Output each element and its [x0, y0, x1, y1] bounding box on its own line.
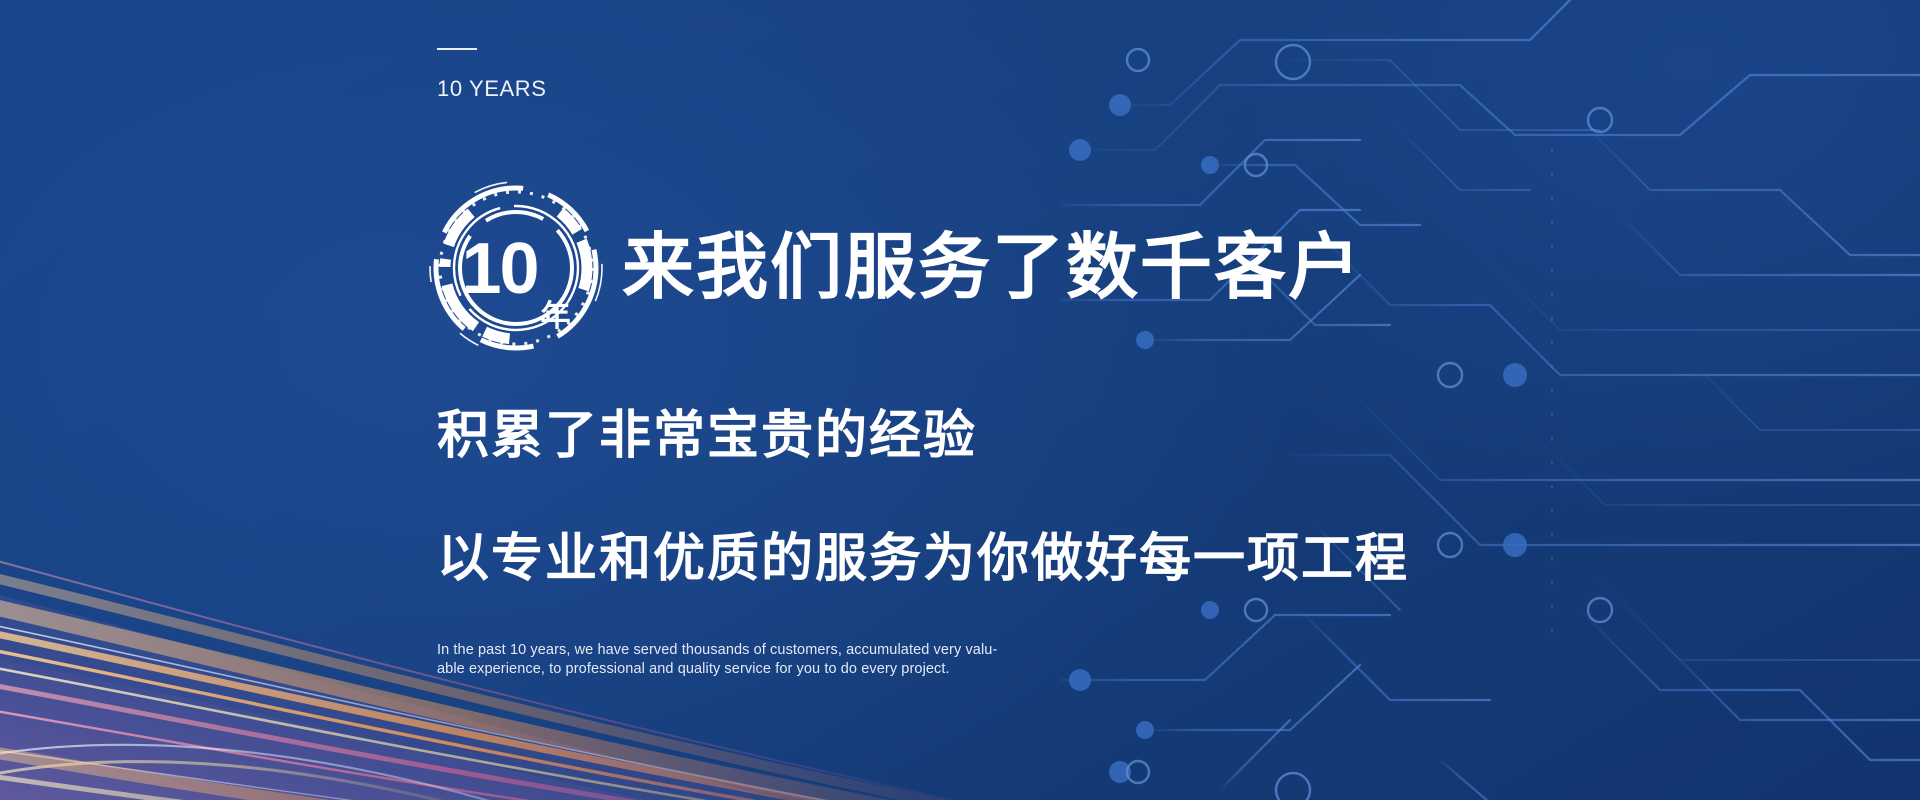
- badge-number: 10: [461, 233, 537, 305]
- headline-line-2: 积累了非常宝贵的经验: [437, 410, 977, 462]
- headline-row: 10 年 来我们服务了数千客户: [426, 178, 1362, 358]
- promo-banner: 10 YEARS: [0, 0, 1920, 800]
- eyebrow: 10 YEARS: [437, 48, 547, 102]
- headline-line-3: 以专业和优质的服务为你做好每一项工程: [437, 533, 1409, 585]
- badge-label: 10 年: [426, 178, 606, 358]
- description-paragraph: In the past 10 years, we have served tho…: [437, 641, 967, 679]
- headline-line-1: 来我们服务了数千客户: [622, 232, 1362, 304]
- description-line-2: able experience, to professional and qua…: [437, 660, 967, 679]
- badge-unit: 年: [541, 302, 571, 332]
- description-line-1: In the past 10 years, we have served tho…: [437, 641, 967, 660]
- eyebrow-label: 10 YEARS: [437, 76, 547, 102]
- eyebrow-rule: [437, 48, 477, 50]
- tech-ring-icon: 10 年: [426, 178, 606, 358]
